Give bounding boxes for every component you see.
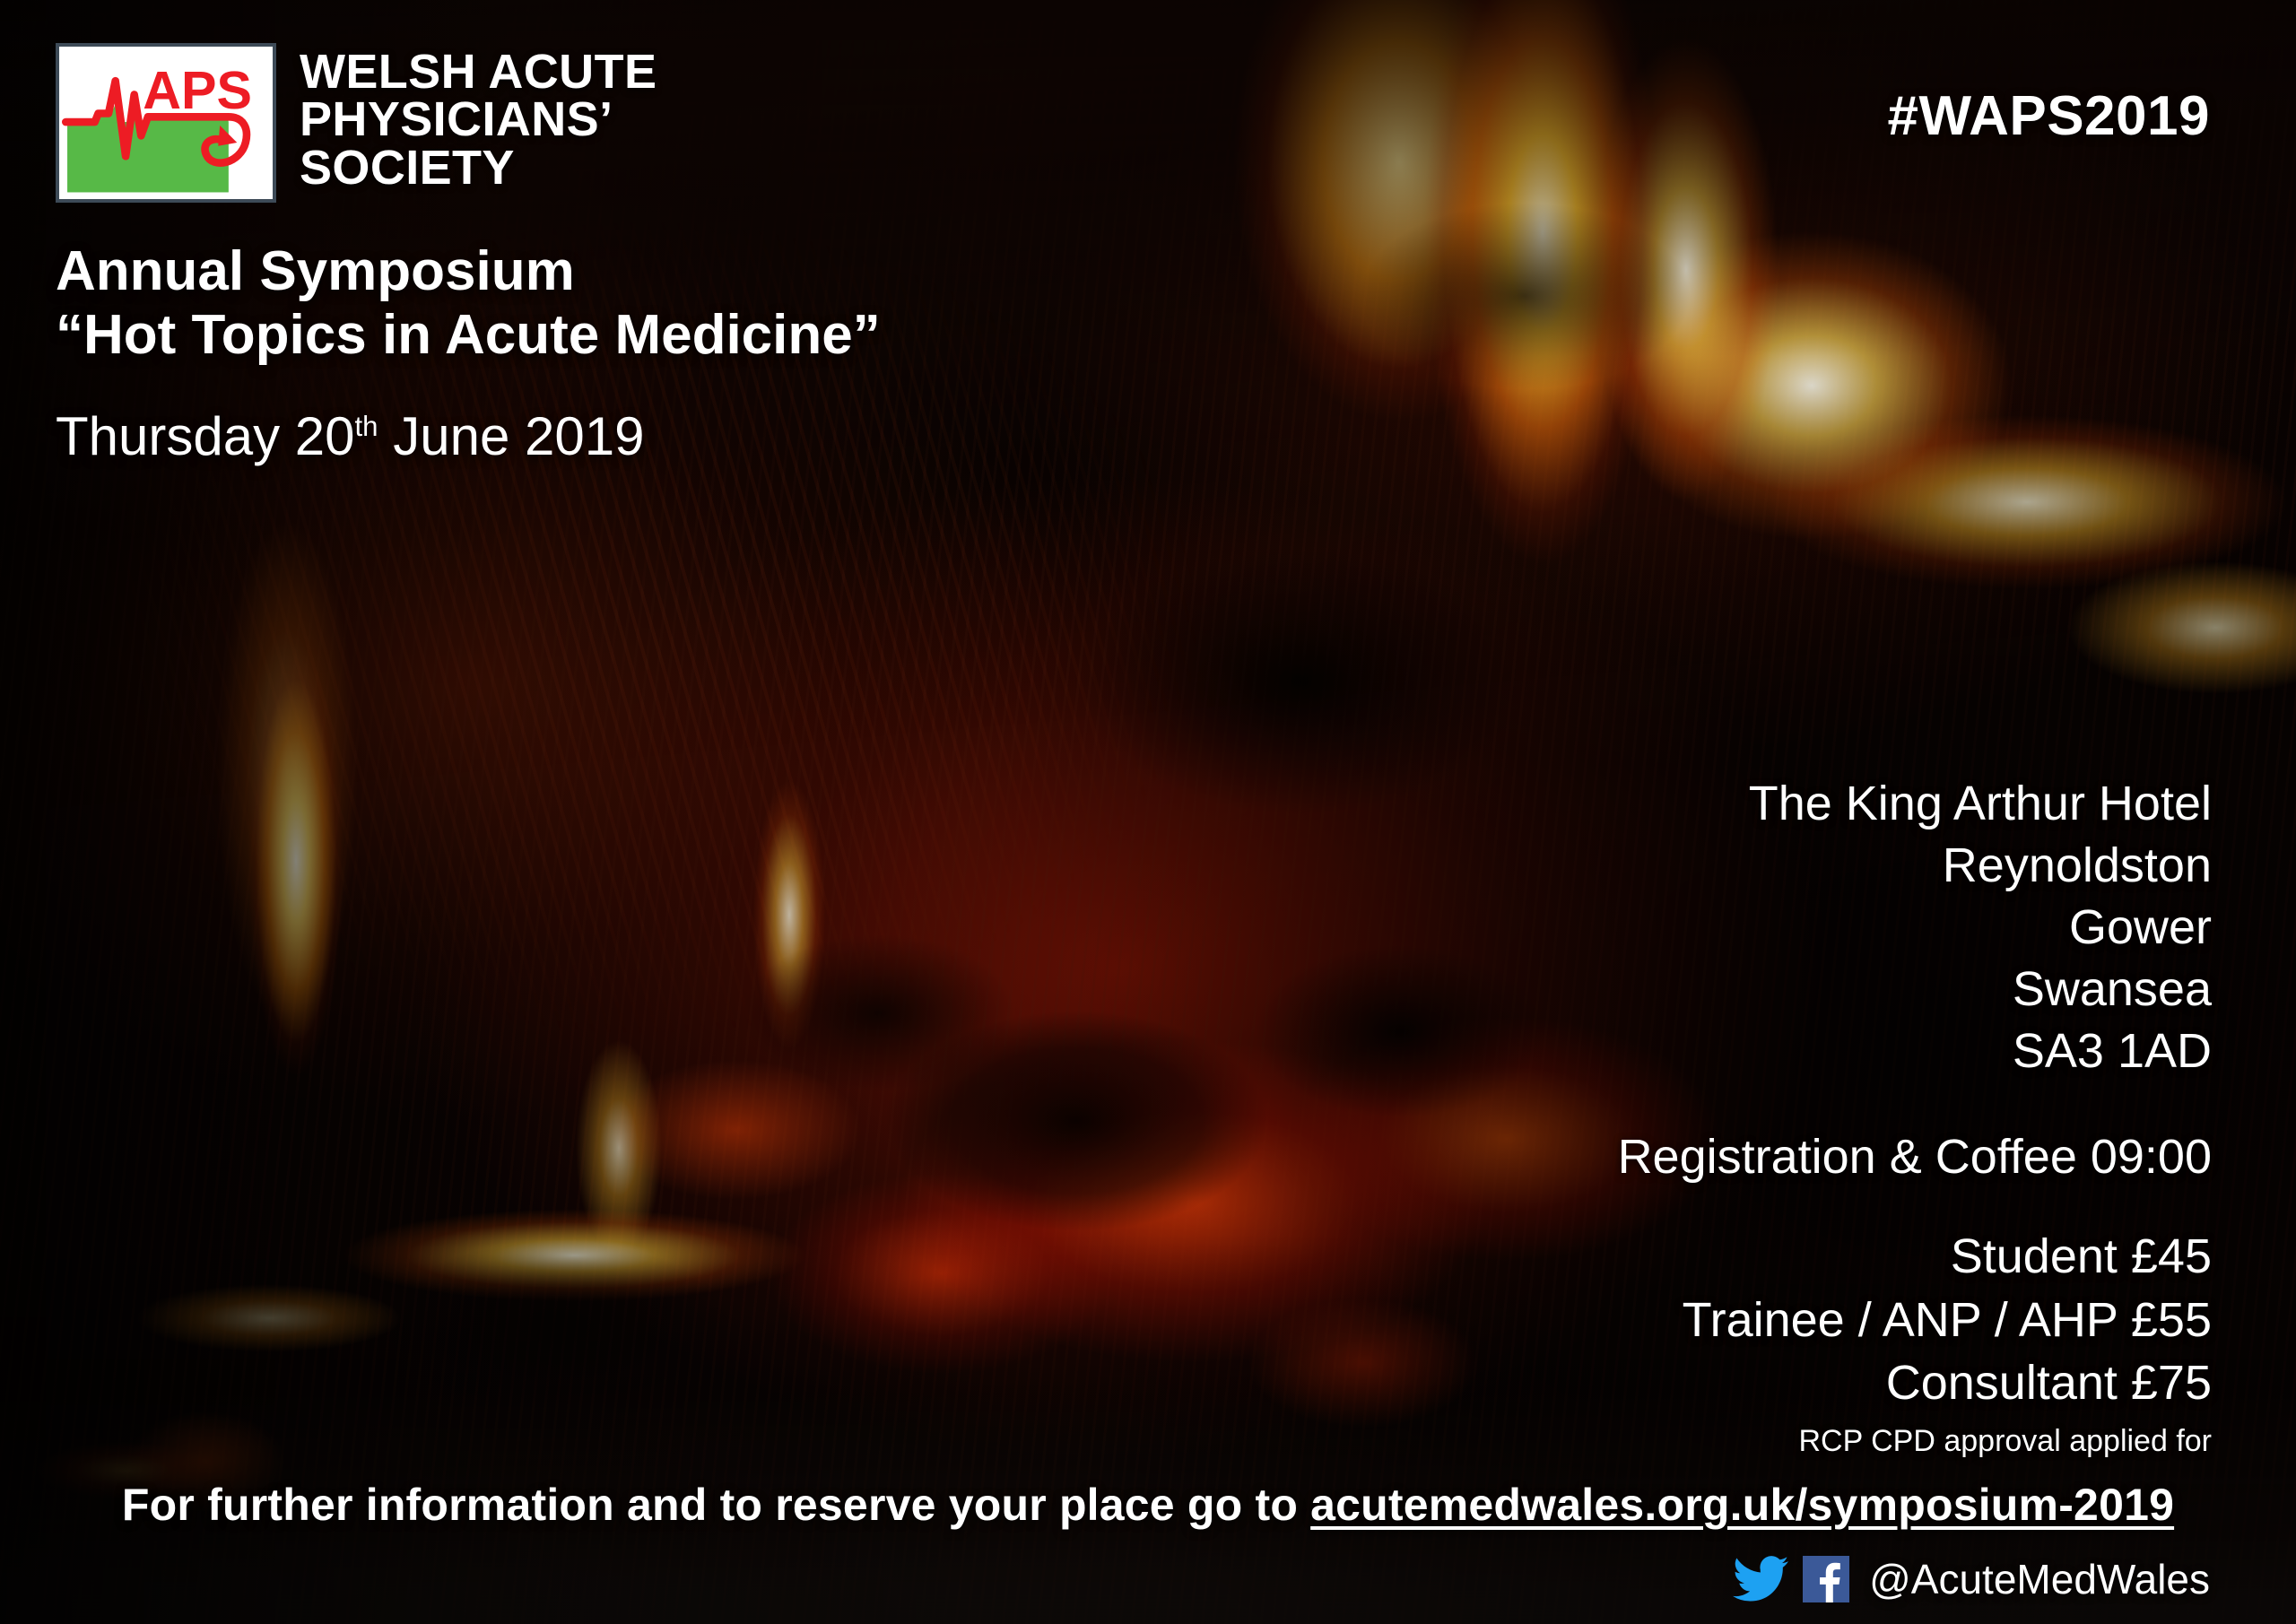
poster-root: APS WELSH ACUTE PHYSICIANS’ SOCIETY #WAP… [0,0,2296,1624]
venue-line: Swansea [1387,959,2212,1020]
poster-content: APS WELSH ACUTE PHYSICIANS’ SOCIETY #WAP… [0,0,2296,1624]
venue-postcode: SA3 1AD [1387,1020,2212,1082]
social-handle[interactable]: @AcuteMedWales [1869,1559,2210,1600]
registration-url-link[interactable]: acutemedwales.org.uk/symposium-2019 [1310,1480,2174,1530]
brand-lockup: APS WELSH ACUTE PHYSICIANS’ SOCIETY [56,43,657,203]
pricing-list: Student £45 Trainee / ANP / AHP £55 Cons… [1387,1225,2212,1459]
event-title-line-1: Annual Symposium [56,240,575,302]
venue-line: Reynoldston [1387,835,2212,897]
event-title-line-2: “Hot Topics in Acute Medicine” [56,304,881,368]
event-details-column: The King Arthur Hotel Reynoldston Gower … [1387,773,2212,1460]
footer-call-to-action: For further information and to reserve y… [0,1479,2296,1531]
event-date-prefix: Thursday 20 [56,406,355,466]
event-date: Thursday 20th June 2019 [56,405,644,467]
venue-line: Gower [1387,897,2212,959]
footer-cta-text: For further information and to reserve y… [122,1480,1310,1530]
twitter-bird-icon[interactable] [1733,1556,1788,1602]
price-item-student: Student £45 [1387,1225,2212,1288]
registration-time: Registration & Coffee 09:00 [1387,1128,2212,1186]
social-links: @AcuteMedWales [1733,1556,2210,1602]
waps-logo: APS [56,43,276,203]
event-hashtag: #WAPS2019 [1888,84,2211,148]
cpd-approval-note: RCP CPD approval applied for [1387,1423,2212,1460]
price-item-consultant: Consultant £75 [1387,1351,2212,1414]
event-title: Annual Symposium “Hot Topics in Acute Me… [56,240,881,367]
venue-address: The King Arthur Hotel Reynoldston Gower … [1387,773,2212,1083]
price-item-trainee: Trainee / ANP / AHP £55 [1387,1289,2212,1351]
svg-text:APS: APS [143,60,252,120]
venue-line: The King Arthur Hotel [1387,773,2212,835]
event-date-suffix: June 2019 [378,406,645,466]
facebook-f-icon[interactable] [1803,1556,1849,1602]
organisation-name: WELSH ACUTE PHYSICIANS’ SOCIETY [300,43,657,192]
event-date-ordinal: th [355,411,378,442]
